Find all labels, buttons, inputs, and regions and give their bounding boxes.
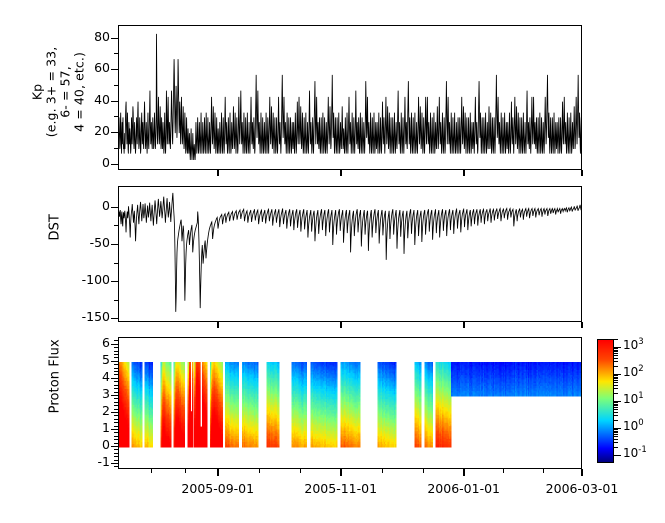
axis-tick-label: 4 — [66, 369, 110, 384]
axis-tick-label: 6 — [66, 335, 110, 350]
tick-mark — [111, 429, 118, 430]
tick-mark — [111, 395, 118, 396]
tick-mark — [114, 443, 118, 444]
tick-mark — [340, 170, 341, 176]
tick-mark — [151, 469, 152, 473]
colorbar-tick-label: 101 — [623, 391, 644, 406]
data-trace — [119, 34, 581, 160]
colorbar-minor-tick — [614, 409, 618, 410]
colorbar-minor-tick — [614, 436, 618, 437]
tick-mark — [114, 402, 118, 403]
colorbar-minor-tick — [614, 378, 618, 379]
tick-mark — [114, 148, 118, 149]
axis-tick-label: 3 — [66, 386, 110, 401]
axis-tick-label: 1 — [66, 420, 110, 435]
colorbar-minor-tick — [614, 377, 618, 378]
colorbar-tick-label: 100 — [623, 418, 644, 433]
tick-mark — [111, 463, 118, 464]
tick-mark — [111, 101, 118, 102]
tick-mark — [114, 415, 118, 416]
colorbar-minor-tick — [614, 420, 618, 421]
tick-mark — [423, 469, 424, 473]
tick-mark — [114, 53, 118, 54]
colorbar-minor-tick — [614, 385, 618, 386]
tick-mark — [114, 300, 118, 301]
colorbar — [597, 339, 614, 463]
colorbar-minor-tick — [614, 393, 618, 394]
tick-mark — [581, 469, 582, 476]
axis-tick-label: 0 — [66, 198, 110, 213]
tick-mark — [114, 225, 118, 226]
tick-mark — [114, 368, 118, 369]
proton-flux-axis-label: Proton Flux — [49, 310, 64, 442]
tick-mark — [114, 374, 118, 375]
figure-root: Kp(e.g. 3+ = 33,6- = 57,4 = 40, etc.) DS… — [0, 0, 665, 523]
tick-mark — [259, 469, 260, 473]
tick-mark — [114, 385, 118, 386]
tick-mark — [114, 409, 118, 410]
tick-mark — [114, 466, 118, 467]
dst-plot-panel — [118, 186, 582, 322]
axis-tick-label: 2 — [66, 403, 110, 418]
tick-mark — [114, 263, 118, 264]
tick-mark — [114, 85, 118, 86]
tick-mark — [114, 357, 118, 358]
tick-mark — [114, 460, 118, 461]
axis-tick-label: 0 — [66, 155, 110, 170]
colorbar-minor-tick — [614, 339, 618, 340]
tick-mark — [114, 116, 118, 117]
colorbar-minor-tick — [614, 402, 618, 403]
colorbar-minor-tick — [614, 375, 618, 376]
colorbar-minor-tick — [614, 447, 618, 448]
tick-mark — [114, 398, 118, 399]
tick-mark — [185, 469, 186, 473]
colorbar-minor-tick — [614, 361, 618, 362]
tick-mark — [114, 351, 118, 352]
axis-label-line: Kp — [29, 83, 44, 99]
axis-tick-label: 80 — [66, 29, 110, 44]
colorbar-minor-tick — [614, 366, 618, 367]
tick-mark — [111, 318, 118, 319]
colorbar-minor-tick — [614, 434, 618, 435]
tick-mark — [581, 322, 582, 328]
colorbar-tick-label: 103 — [623, 337, 644, 352]
tick-mark — [217, 469, 218, 476]
colorbar-minor-tick — [614, 350, 618, 351]
tick-mark — [111, 378, 118, 379]
colorbar-tick-label: 10-1 — [623, 445, 647, 460]
axis-label-line: DST — [48, 214, 63, 241]
proton-flux-plot-panel — [118, 337, 582, 469]
axis-tick-label: 2006-01-01 — [419, 481, 509, 496]
colorbar-minor-tick — [614, 353, 618, 354]
tick-mark — [503, 469, 504, 473]
tick-mark — [111, 244, 118, 245]
tick-mark — [300, 469, 301, 473]
tick-mark — [382, 469, 383, 473]
tick-mark — [111, 344, 118, 345]
colorbar-minor-tick — [614, 407, 618, 408]
tick-mark — [114, 419, 118, 420]
axis-tick-label: 60 — [66, 60, 110, 75]
tick-mark — [111, 361, 118, 362]
axis-label-line: Proton Flux — [48, 339, 63, 413]
tick-mark — [114, 371, 118, 372]
tick-mark — [114, 439, 118, 440]
colorbar-minor-tick — [614, 351, 618, 352]
colorbar-minor-tick — [614, 355, 618, 356]
tick-mark — [114, 456, 118, 457]
axis-tick-label: 2005-09-01 — [173, 481, 263, 496]
tick-mark — [114, 422, 118, 423]
colorbar-minor-tick — [614, 439, 618, 440]
tick-mark — [111, 412, 118, 413]
axis-tick-label: 20 — [66, 123, 110, 138]
axis-tick-label: 40 — [66, 92, 110, 107]
axis-tick-label: 2006-03-01 — [537, 481, 627, 496]
colorbar-minor-tick — [614, 431, 618, 432]
tick-mark — [340, 322, 341, 328]
tick-mark — [114, 432, 118, 433]
axis-tick-label: 2005-11-01 — [296, 481, 386, 496]
tick-mark — [581, 170, 582, 176]
axis-tick-label: -1 — [66, 454, 110, 469]
axis-tick-label: 5 — [66, 352, 110, 367]
tick-mark — [111, 207, 118, 208]
tick-mark — [463, 170, 464, 176]
tick-mark — [114, 436, 118, 437]
colorbar-minor-tick — [614, 404, 618, 405]
colorbar-minor-tick — [614, 380, 618, 381]
tick-mark — [111, 38, 118, 39]
tick-mark — [114, 354, 118, 355]
colorbar-minor-tick — [614, 415, 618, 416]
colorbar-minor-tick — [614, 412, 618, 413]
colorbar-minor-tick — [614, 432, 618, 433]
tick-mark — [463, 469, 464, 476]
tick-mark — [111, 132, 118, 133]
tick-mark — [543, 469, 544, 473]
colorbar-minor-tick — [614, 348, 618, 349]
tick-mark — [114, 347, 118, 348]
axis-tick-label: 0 — [66, 437, 110, 452]
dst-axis-label: DST — [49, 159, 64, 295]
colorbar-tick — [614, 455, 621, 456]
colorbar-minor-tick — [614, 358, 618, 359]
tick-mark — [114, 364, 118, 365]
tick-mark — [114, 392, 118, 393]
tick-mark — [111, 446, 118, 447]
colorbar-minor-tick — [614, 382, 618, 383]
colorbar-tick-label: 102 — [623, 364, 644, 379]
axis-tick-label: -100 — [66, 272, 110, 287]
tick-mark — [114, 340, 118, 341]
tick-mark — [111, 69, 118, 70]
data-trace — [119, 193, 581, 312]
colorbar-minor-tick — [614, 429, 618, 430]
colorbar-minor-tick — [614, 405, 618, 406]
tick-mark — [114, 449, 118, 450]
tick-mark — [114, 381, 118, 382]
tick-mark — [111, 281, 118, 282]
tick-mark — [463, 322, 464, 328]
tick-mark — [111, 164, 118, 165]
axis-label-line: (e.g. 3+ = 33, — [43, 46, 58, 137]
tick-mark — [217, 322, 218, 328]
axis-tick-label: -50 — [66, 235, 110, 250]
colorbar-minor-tick — [614, 388, 618, 389]
tick-mark — [114, 453, 118, 454]
colorbar-minor-tick — [614, 442, 618, 443]
tick-mark — [114, 426, 118, 427]
axis-tick-label: -150 — [66, 309, 110, 324]
kp-plot-panel — [118, 25, 582, 170]
heatmap-cells — [119, 362, 581, 448]
tick-mark — [114, 388, 118, 389]
tick-mark — [340, 469, 341, 476]
tick-mark — [114, 405, 118, 406]
tick-mark — [217, 170, 218, 176]
